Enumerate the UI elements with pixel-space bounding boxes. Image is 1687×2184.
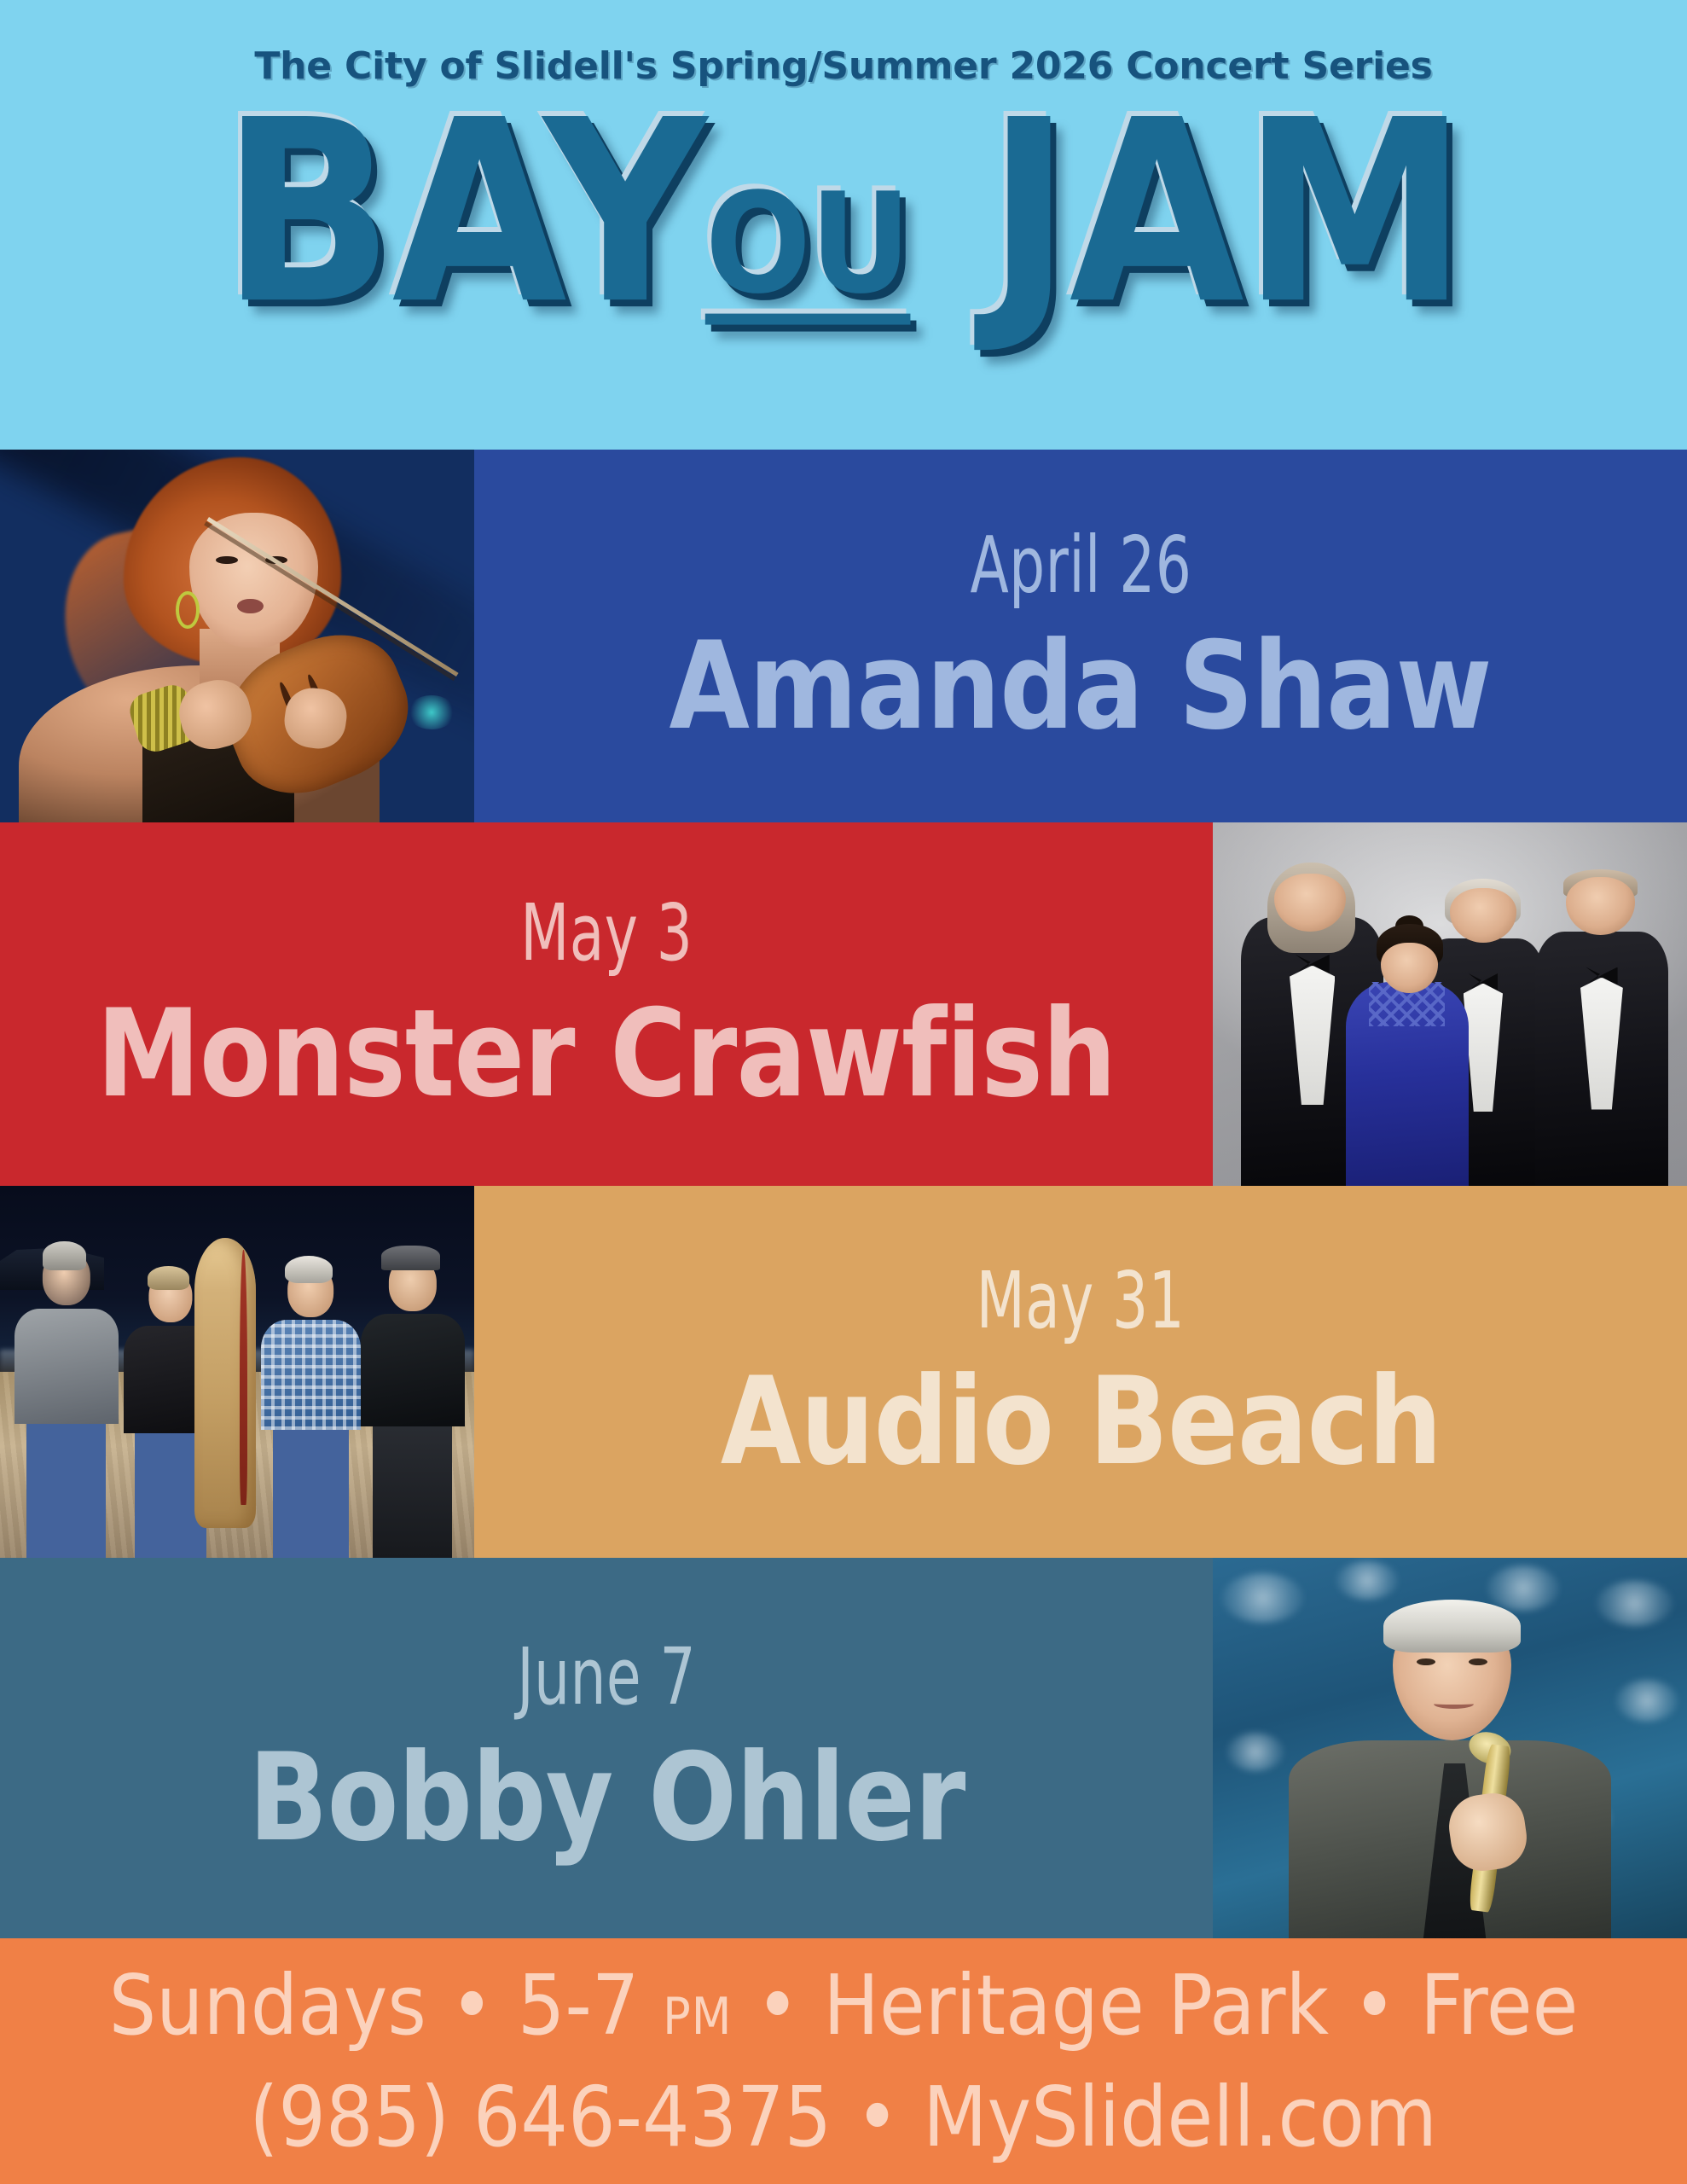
amanda-shaw-violinist-photo [0, 450, 474, 822]
bobby-ohler-trumpet-photo [1213, 1558, 1687, 1938]
event-date: May 3 [520, 889, 693, 978]
wooden-surfboard [194, 1238, 256, 1528]
audio-beach-band-photo [0, 1186, 474, 1558]
event-artist: Audio Beach [720, 1357, 1441, 1487]
band-member [14, 1238, 119, 1558]
mouth [237, 599, 264, 613]
footer-contact-line: (985) 646-4375 • MySlidell.com [250, 2067, 1438, 2168]
event-row-monster-crawfish: May 3 Monster Crawfish [0, 822, 1687, 1186]
bokeh-light [1227, 1733, 1284, 1771]
event-text-block: May 31 Audio Beach [474, 1186, 1687, 1558]
bokeh-light [1616, 1680, 1678, 1722]
footer-venue-price: • Heritage Park • Free [732, 1957, 1578, 2053]
band-member-tuxedo [1535, 932, 1668, 1186]
band-member [261, 1252, 361, 1558]
poster-header: The City of Slidell's Spring/Summer 2026… [0, 0, 1687, 450]
event-artist: Bobby Ohler [248, 1734, 965, 1863]
event-date: June 7 [517, 1633, 696, 1722]
event-row-amanda-shaw: April 26 Amanda Shaw [0, 450, 1687, 822]
footer-details-line: Sundays • 5-7 PM • Heritage Park • Free [109, 1955, 1579, 2067]
event-text-block: June 7 Bobby Ohler [0, 1558, 1213, 1938]
bokeh-light [1336, 1561, 1398, 1600]
event-text-block: April 26 Amanda Shaw [474, 450, 1687, 822]
hoop-earring [176, 591, 200, 629]
event-artist: Amanda Shaw [670, 622, 1492, 752]
band-member [361, 1246, 465, 1558]
footer-pm-smallcaps: PM [663, 1987, 732, 2047]
stage-light-teal [408, 695, 455, 729]
poster-footer: Sundays • 5-7 PM • Heritage Park • Free … [0, 1938, 1687, 2184]
bokeh-light [1597, 1581, 1673, 1627]
footer-day-time: Sundays • 5-7 [109, 1957, 663, 2053]
bayou-jam-wordmark: BAYOU JAM BAYOU JAM BAYOU JAM BAYOU JAM [0, 92, 1687, 348]
monster-crawfish-band-photo [1213, 822, 1687, 1186]
bokeh-light [1487, 1565, 1558, 1612]
event-row-bobby-ohler: June 7 Bobby Ohler [0, 1558, 1687, 1938]
event-text-block: May 3 Monster Crawfish [0, 822, 1213, 1186]
event-row-audio-beach: May 31 Audio Beach [0, 1186, 1687, 1558]
event-date: April 26 [970, 521, 1191, 610]
face [189, 513, 317, 647]
white-hair [1383, 1600, 1521, 1653]
bayou-jam-concert-poster: The City of Slidell's Spring/Summer 2026… [0, 0, 1687, 2184]
wordmark-face-layer: BAYOU JAM [0, 92, 1687, 334]
bokeh-light [1222, 1573, 1303, 1623]
smile [1434, 1699, 1474, 1709]
event-artist: Monster Crawfish [97, 990, 1116, 1119]
event-date: May 31 [977, 1257, 1186, 1345]
left-eye [216, 556, 238, 565]
